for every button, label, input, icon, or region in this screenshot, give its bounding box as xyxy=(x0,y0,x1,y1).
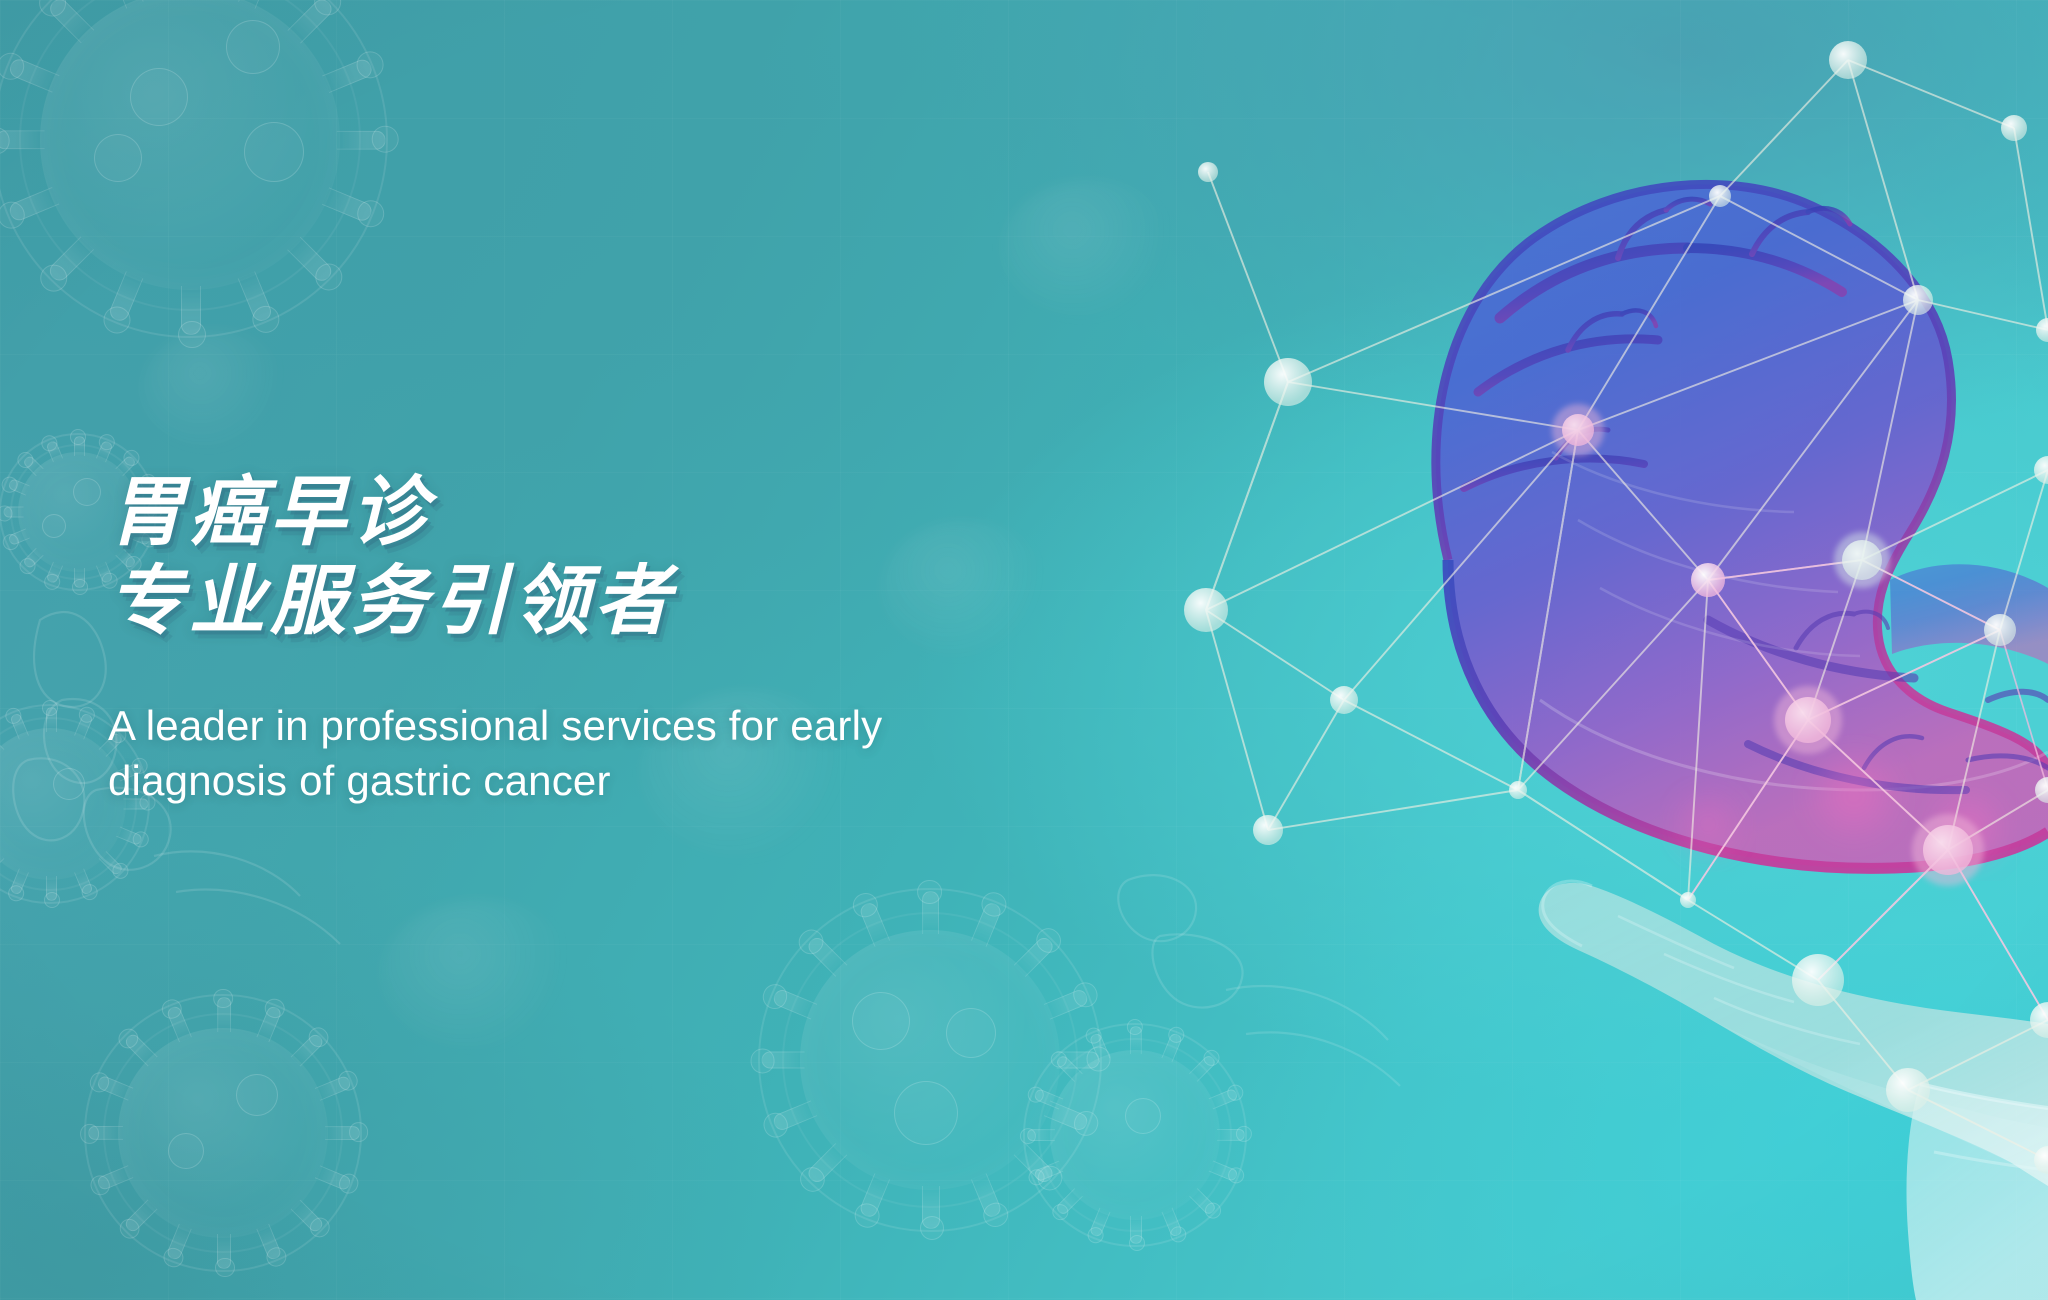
page-title: 胃癌早诊 专业服务引领者 xyxy=(108,469,1128,647)
subhead-line-1: A leader in professional services for ea… xyxy=(108,698,1128,754)
subhead-line-2: diagnosis of gastric cancer xyxy=(108,753,1128,809)
page-subtitle: A leader in professional services for ea… xyxy=(108,698,1128,810)
lab-coat-sleeve xyxy=(1907,1084,2048,1300)
hero-graphic xyxy=(1148,0,2048,1300)
stomach-network-illustration xyxy=(1148,0,2048,1300)
headline-line-1: 胃癌早诊 xyxy=(108,469,1128,558)
banner-root: 胃癌早诊 专业服务引领者 A leader in professional se… xyxy=(0,0,2048,1300)
open-hand xyxy=(1539,881,2048,1300)
stomach-organ xyxy=(1436,184,2048,872)
copy-block: 胃癌早诊 专业服务引领者 A leader in professional se… xyxy=(108,418,1128,851)
headline-line-2: 专业服务引领者 xyxy=(108,558,1128,647)
